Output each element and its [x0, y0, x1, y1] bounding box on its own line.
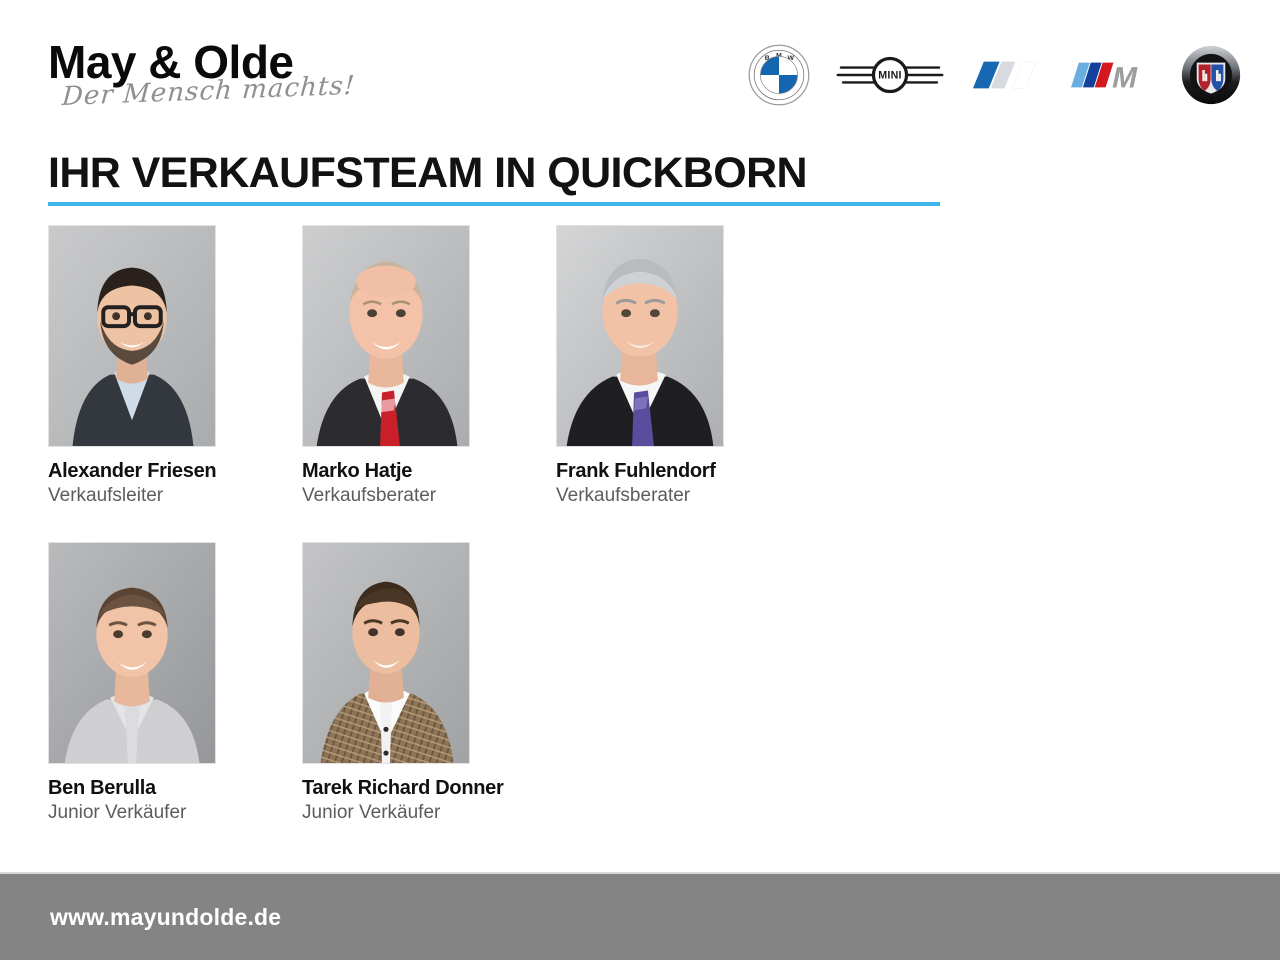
page-footer: www.mayundolde.de	[0, 872, 1280, 960]
svg-text:M: M	[1109, 62, 1141, 94]
footer-website-url[interactable]: www.mayundolde.de	[50, 904, 281, 931]
title-underline	[48, 202, 940, 206]
svg-text:MINI: MINI	[878, 70, 902, 82]
team-member-card[interactable]: Tarek Richard Donner Junior Verkäufer	[302, 542, 470, 825]
team-row: Ben Berulla Junior Verkäufer	[48, 542, 1148, 825]
bmw-logo: B M W	[748, 40, 810, 110]
member-name: Marko Hatje	[302, 459, 470, 483]
page-header: May & Olde Der Mensch machts! B M W	[0, 0, 1280, 135]
portrait-tarek-richard-donner	[302, 542, 470, 764]
team-member-card[interactable]: Alexander Friesen Verkaufsleiter	[48, 225, 216, 508]
portrait-marko-hatje	[302, 225, 470, 447]
team-member-card[interactable]: Ben Berulla Junior Verkäufer	[48, 542, 216, 825]
team-row: Alexander Friesen Verkaufsleiter	[48, 225, 1148, 508]
member-role: Verkaufsberater	[302, 484, 470, 508]
team-member-card[interactable]: Frank Fuhlendorf Verkaufsberater	[556, 225, 724, 508]
mini-logo: MINI	[836, 40, 944, 110]
bmw-i-logo	[970, 40, 1044, 110]
portrait-frank-fuhlendorf	[556, 225, 724, 447]
bmw-m-logo: M	[1070, 40, 1154, 110]
title-block: IHR VERKAUFSTEAM IN QUICKBORN	[48, 148, 948, 206]
member-role: Junior Verkäufer	[302, 801, 470, 825]
member-name: Tarek Richard Donner	[302, 776, 470, 800]
member-role: Verkaufsleiter	[48, 484, 216, 508]
member-name: Frank Fuhlendorf	[556, 459, 724, 483]
alpina-logo	[1180, 40, 1242, 110]
dealer-logo[interactable]: May & Olde Der Mensch machts!	[48, 38, 378, 112]
portrait-ben-berulla	[48, 542, 216, 764]
portrait-alexander-friesen	[48, 225, 216, 447]
member-role: Verkaufsberater	[556, 484, 724, 508]
member-role: Junior Verkäufer	[48, 801, 216, 825]
member-name: Alexander Friesen	[48, 459, 216, 483]
team-member-card[interactable]: Marko Hatje Verkaufsberater	[302, 225, 470, 508]
page-title: IHR VERKAUFSTEAM IN QUICKBORN	[48, 148, 948, 198]
member-name: Ben Berulla	[48, 776, 216, 800]
team-grid: Alexander Friesen Verkaufsleiter	[48, 225, 1148, 859]
brand-logo-strip: B M W	[748, 40, 1242, 110]
